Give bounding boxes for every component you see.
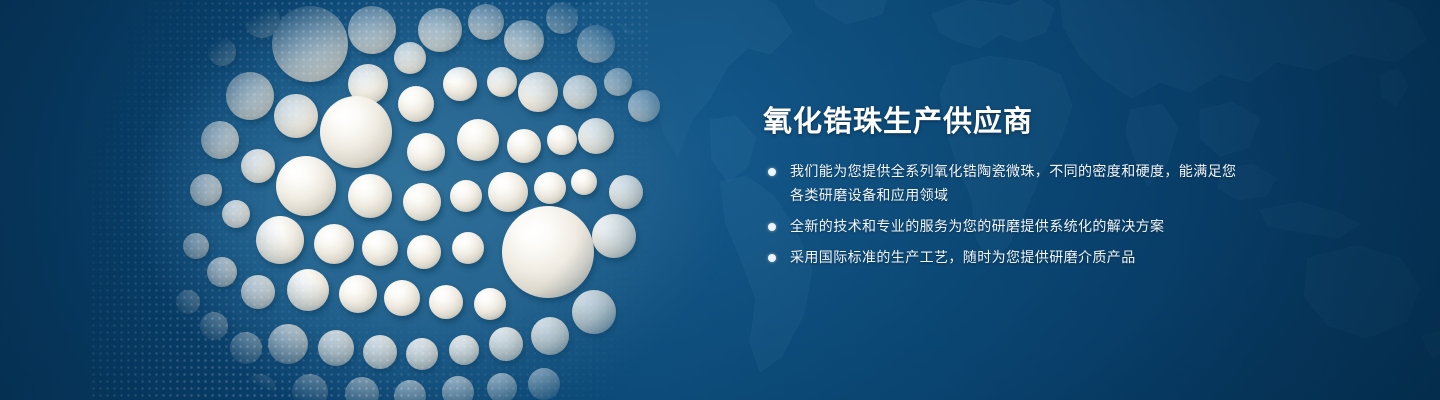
list-item: 我们能为您提供全系列氧化锆陶瓷微珠，不同的密度和硬度，能满足您各类研磨设备和应用… <box>763 160 1243 208</box>
hero-banner: 氧化锆珠生产供应商 我们能为您提供全系列氧化锆陶瓷微珠，不同的密度和硬度，能满足… <box>0 0 1440 400</box>
banner-copy: 氧化锆珠生产供应商 我们能为您提供全系列氧化锆陶瓷微珠，不同的密度和硬度，能满足… <box>763 104 1243 277</box>
page-title: 氧化锆珠生产供应商 <box>763 104 1243 138</box>
bullet-dot-icon <box>768 168 776 176</box>
list-item-label: 全新的技术和专业的服务为您的研磨提供系统化的解决方案 <box>790 215 1164 239</box>
bullet-dot-icon <box>768 223 776 231</box>
bullet-dot-icon <box>768 254 776 262</box>
list-item: 采用国际标准的生产工艺，随时为您提供研磨介质产品 <box>763 246 1243 270</box>
list-item: 全新的技术和专业的服务为您的研磨提供系统化的解决方案 <box>763 215 1243 239</box>
list-item-label: 采用国际标准的生产工艺，随时为您提供研磨介质产品 <box>790 246 1136 270</box>
list-item-label: 我们能为您提供全系列氧化锆陶瓷微珠，不同的密度和硬度，能满足您各类研磨设备和应用… <box>790 160 1243 208</box>
feature-list: 我们能为您提供全系列氧化锆陶瓷微珠，不同的密度和硬度，能满足您各类研磨设备和应用… <box>763 160 1243 270</box>
